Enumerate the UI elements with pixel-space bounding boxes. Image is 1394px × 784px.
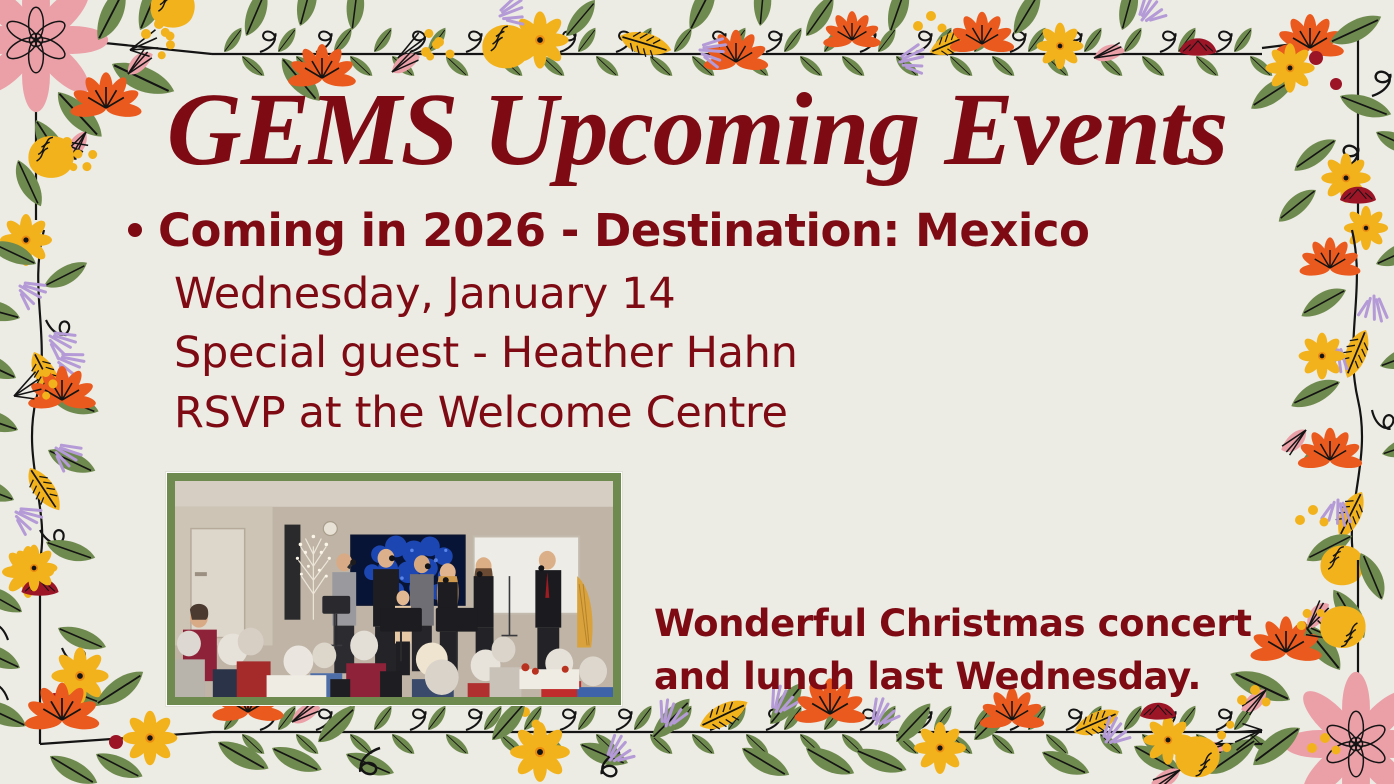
bullet-heading: Coming in 2026 - Destination: Mexico [158,208,1089,253]
bullet-icon [128,223,142,237]
page-title: GEMS Upcoming Events [0,78,1394,182]
event-photo-frame [166,472,622,706]
events-list: Coming in 2026 - Destination: Mexico Wed… [128,208,1128,443]
list-item: Coming in 2026 - Destination: Mexico [128,208,1128,253]
caption-line-1: Wonderful Christmas concert [654,598,1274,651]
caption-line-2: and lunch last Wednesday. [654,651,1274,704]
event-photo [175,481,613,697]
event-date: Wednesday, January 14 [174,265,1128,324]
concert-photo-illustration [175,481,613,697]
event-details: Wednesday, January 14 Special guest - He… [174,265,1128,443]
slide-canvas: GEMS Upcoming Events Coming in 2026 - De… [0,0,1394,784]
event-rsvp: RSVP at the Welcome Centre [174,384,1128,443]
photo-caption: Wonderful Christmas concert and lunch la… [654,598,1274,703]
event-guest: Special guest - Heather Hahn [174,324,1128,383]
